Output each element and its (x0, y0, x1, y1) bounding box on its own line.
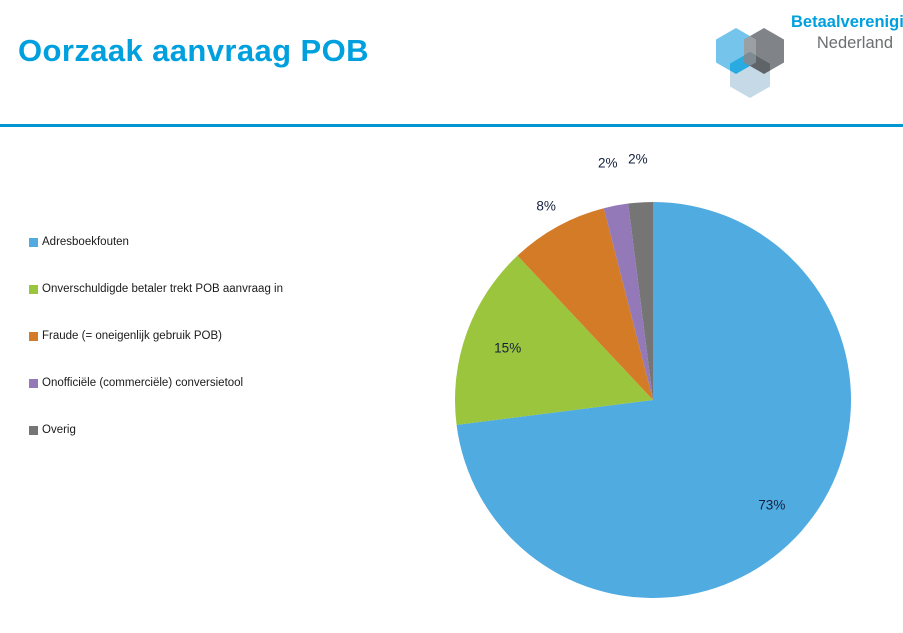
pie-slice-label: 8% (536, 198, 556, 213)
header-divider (0, 124, 903, 127)
chart-legend: Adresboekfouten Onverschuldigde betaler … (29, 236, 359, 471)
pie-slice-label: 2% (628, 151, 648, 166)
legend-item-label: Overig (42, 424, 76, 437)
page-title: Oorzaak aanvraag POB (18, 33, 369, 69)
legend-swatch-icon (29, 379, 38, 388)
legend-swatch-icon (29, 238, 38, 247)
legend-item-label: Onofficiële (commerciële) conversietool (42, 377, 243, 390)
pie-chart-svg[interactable] (380, 150, 903, 633)
logo-line-betaalvereniging: Betaalvereniging (791, 12, 893, 33)
pie-slices (455, 202, 851, 598)
legend-item-adresboekfouten[interactable]: Adresboekfouten (29, 236, 359, 283)
legend-item-overig[interactable]: Overig (29, 424, 359, 471)
logo-line-nederland: Nederland (791, 33, 893, 54)
legend-swatch-icon (29, 285, 38, 294)
slide-canvas: Oorzaak aanvraag POB (0, 0, 903, 633)
pie-slice-label: 73% (758, 497, 785, 512)
legend-item-onverschuldigde-betaler[interactable]: Onverschuldigde betaler trekt POB aanvra… (29, 283, 359, 330)
brand-logo: Betaalvereniging Nederland (713, 8, 893, 108)
slide-header: Oorzaak aanvraag POB (0, 0, 903, 126)
hexagon-venn-logo-icon (713, 26, 787, 102)
legend-item-label: Adresboekfouten (42, 236, 129, 249)
pie-slice-label: 2% (598, 155, 618, 170)
legend-item-label: Onverschuldigde betaler trekt POB aanvra… (42, 283, 283, 296)
legend-swatch-icon (29, 426, 38, 435)
legend-item-label: Fraude (= oneigenlijk gebruik POB) (42, 330, 222, 343)
pie-slice-label: 15% (494, 340, 521, 355)
pie-chart: 73%15%8%2%2% (380, 150, 903, 633)
legend-item-fraude[interactable]: Fraude (= oneigenlijk gebruik POB) (29, 330, 359, 377)
logo-wordmark: Betaalvereniging Nederland (791, 12, 893, 54)
legend-item-conversietool[interactable]: Onofficiële (commerciële) conversietool (29, 377, 359, 424)
legend-swatch-icon (29, 332, 38, 341)
